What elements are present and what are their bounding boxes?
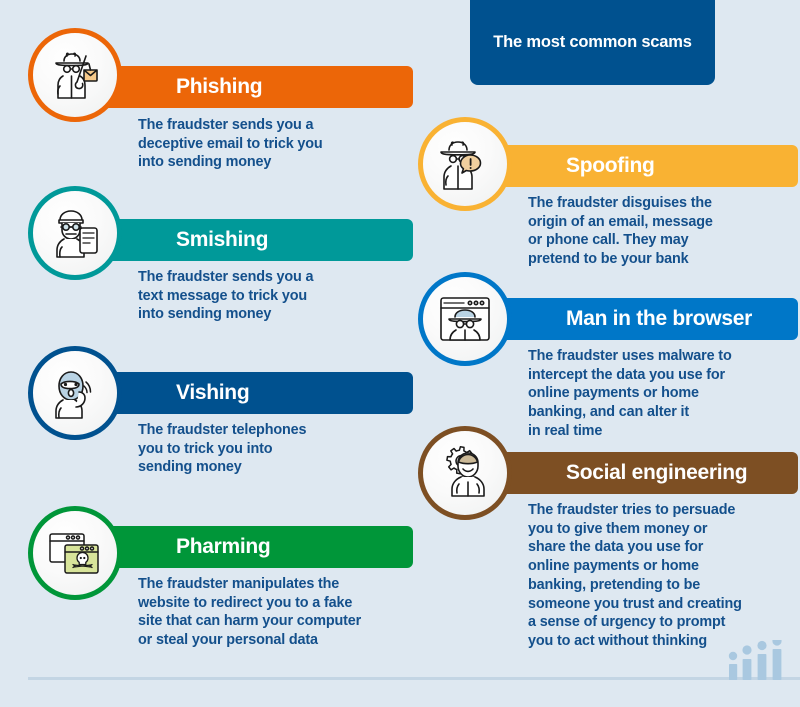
- infographic-canvas: The most common scams Phishing The fraud…: [0, 0, 800, 707]
- scam-badge-social-engineering: Social engineering: [478, 452, 798, 494]
- scam-description-pharming: The fraudster manipulates the website to…: [138, 575, 418, 650]
- bar-chart-dots-logo-icon: [726, 640, 784, 680]
- spy-fishing-rod-envelope-icon: [28, 28, 122, 122]
- balaclava-person-telephone-icon: [28, 346, 122, 440]
- scam-badge-smishing: Smishing: [88, 219, 413, 261]
- gear-person-helmet-icon: [418, 426, 512, 520]
- scam-title-vishing: Vishing: [176, 381, 249, 405]
- scam-badge-pharming: Pharming: [88, 526, 413, 568]
- scam-description-phishing: The fraudster sends you a deceptive emai…: [138, 116, 398, 172]
- browser-window-spy-icon: [418, 272, 512, 366]
- scam-title-phishing: Phishing: [176, 75, 262, 99]
- footer-divider: [28, 677, 800, 680]
- spy-hat-alert-bubble-icon: [418, 117, 512, 211]
- scam-description-smishing: The fraudster sends you a text message t…: [138, 268, 398, 324]
- scam-title-smishing: Smishing: [176, 228, 268, 252]
- scam-title-spoofing: Spoofing: [566, 154, 655, 178]
- page-title-card: The most common scams: [470, 0, 715, 85]
- browser-windows-skull-icon: [28, 506, 122, 600]
- scam-description-vishing: The fraudster telephones you to trick yo…: [138, 421, 398, 477]
- scam-badge-phishing: Phishing: [88, 66, 413, 108]
- scam-description-man-in-the-browser: The fraudster uses malware to intercept …: [528, 347, 798, 441]
- page-title: The most common scams: [493, 33, 691, 53]
- scam-description-spoofing: The fraudster disguises the origin of an…: [528, 194, 793, 269]
- masked-person-sms-phone-icon: [28, 186, 122, 280]
- scam-badge-man-in-the-browser: Man in the browser: [478, 298, 798, 340]
- scam-title-man-in-the-browser: Man in the browser: [566, 307, 752, 331]
- scam-description-social-engineering: The fraudster tries to persuade you to g…: [528, 501, 800, 651]
- scam-badge-spoofing: Spoofing: [478, 145, 798, 187]
- scam-title-pharming: Pharming: [176, 535, 270, 559]
- scam-badge-vishing: Vishing: [88, 372, 413, 414]
- scam-title-social-engineering: Social engineering: [566, 461, 747, 485]
